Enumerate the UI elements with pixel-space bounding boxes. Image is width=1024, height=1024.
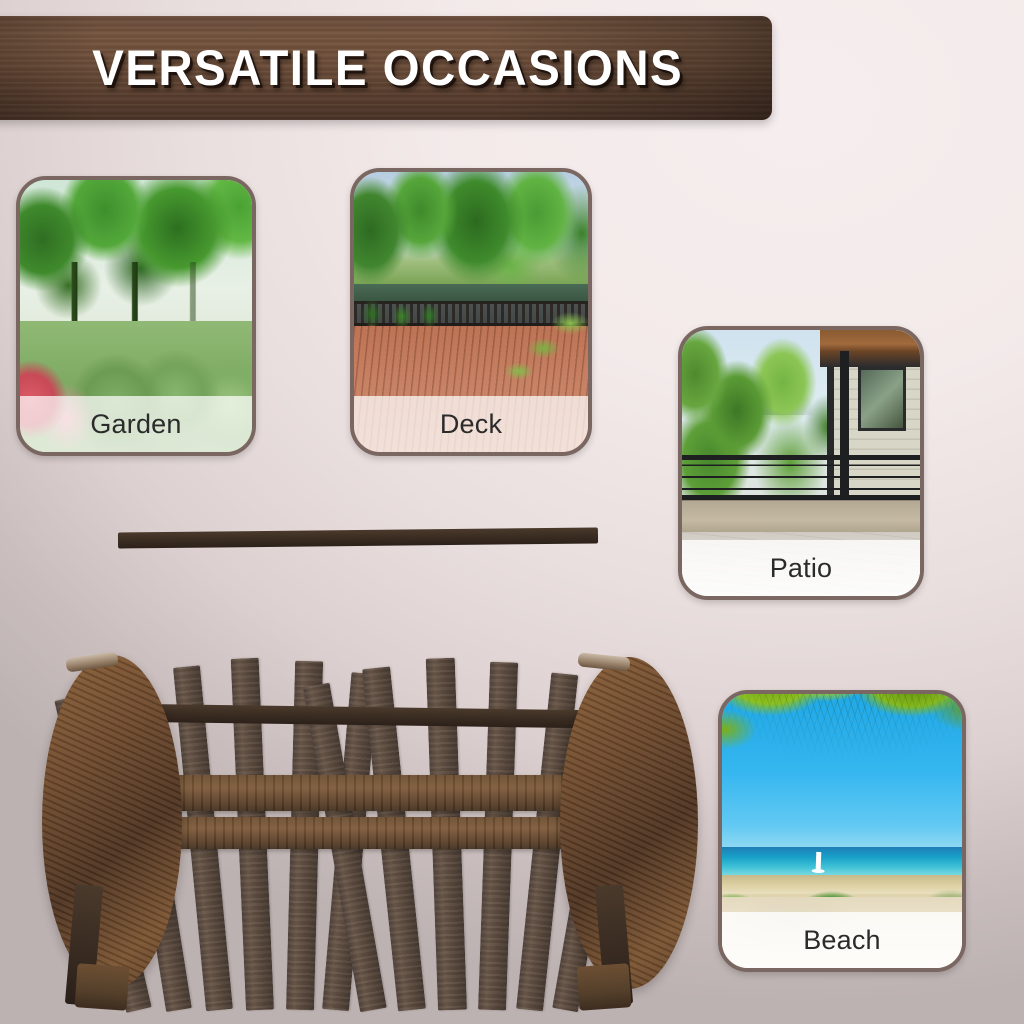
- header-banner: VERSATILE OCCASIONS: [0, 16, 772, 120]
- occasion-card-label: Garden: [20, 396, 252, 452]
- occasion-card-deck[interactable]: Deck: [350, 168, 592, 456]
- deck-foliage-branch: [490, 306, 588, 401]
- palm-frond-detail: [722, 694, 962, 809]
- product-infographic-page: VERSATILE OCCASIONS: [0, 0, 1024, 1024]
- base-runner-left: [75, 963, 130, 1011]
- wagon-wheel-arm-right: [560, 657, 698, 989]
- page-title: VERSATILE OCCASIONS: [75, 39, 683, 97]
- occasion-card-label: Beach: [722, 912, 962, 968]
- backrest-upper-rail: [118, 527, 598, 548]
- sailboat-icon: [815, 851, 821, 868]
- wagon-wheel-arm-left: [42, 655, 182, 989]
- occasion-card-beach[interactable]: Beach: [718, 690, 966, 972]
- arm-cap-right: [577, 652, 630, 671]
- patio-window: [858, 367, 906, 431]
- product-image-wooden-bench: [30, 465, 670, 1010]
- base-runner-right: [577, 963, 632, 1011]
- occasion-card-patio[interactable]: Patio: [678, 326, 924, 600]
- occasion-card-label: Patio: [682, 540, 920, 596]
- occasion-card-garden[interactable]: Garden: [16, 176, 256, 456]
- patio-parapet-wall: [682, 495, 920, 538]
- patio-roof-eave: [820, 330, 920, 367]
- occasion-card-label: Deck: [354, 396, 588, 452]
